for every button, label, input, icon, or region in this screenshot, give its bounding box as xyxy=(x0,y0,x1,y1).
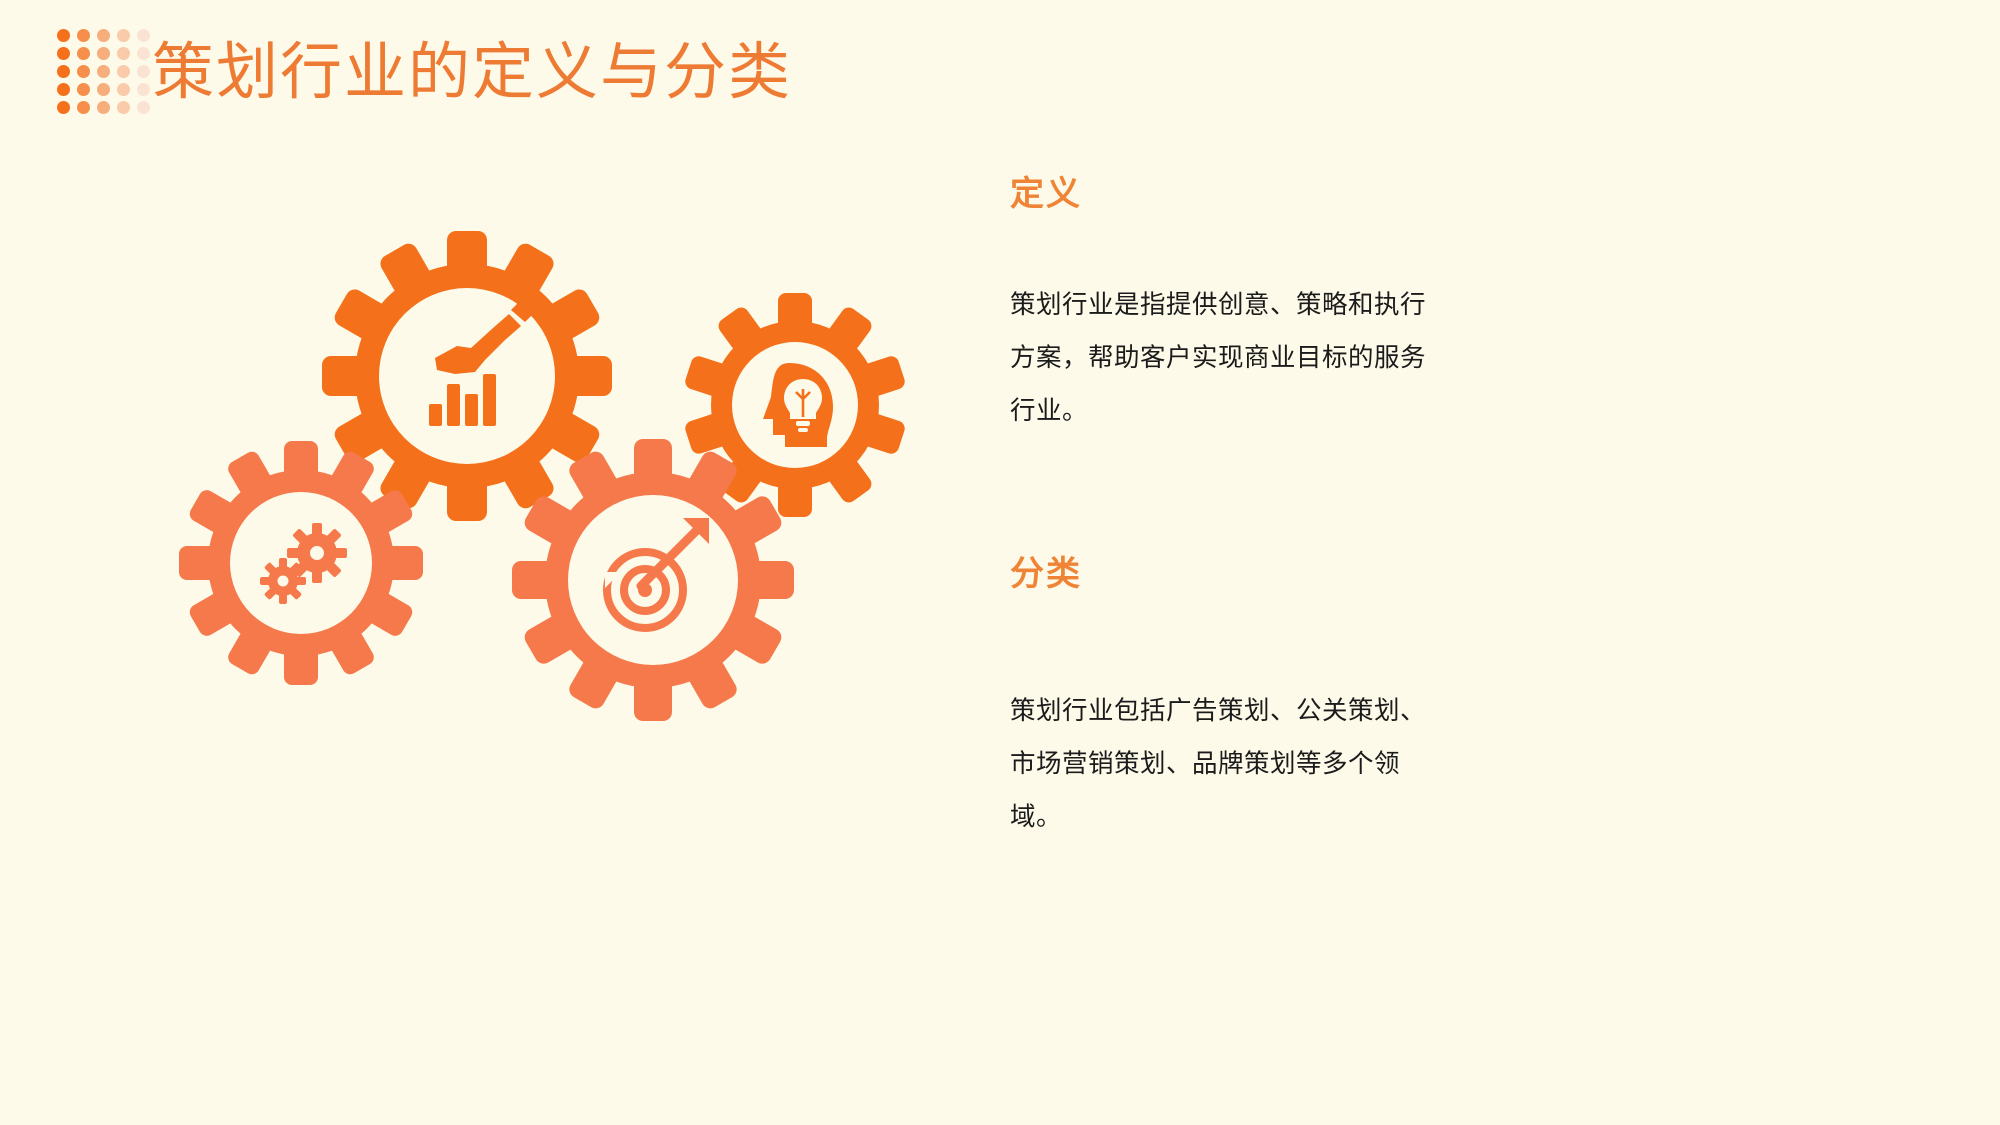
grid-dot xyxy=(77,29,90,42)
slide-canvas: 策划行业的定义与分类 xyxy=(0,0,2000,1125)
dot-grid-decoration xyxy=(57,29,157,119)
grid-dot xyxy=(117,83,130,96)
slide-header: 策划行业的定义与分类 xyxy=(0,0,2000,160)
grid-dot xyxy=(137,47,150,60)
grid-dot xyxy=(57,47,70,60)
grid-dot xyxy=(97,83,110,96)
grid-dot xyxy=(77,47,90,60)
grid-dot xyxy=(77,101,90,114)
grid-dot xyxy=(117,101,130,114)
grid-dot xyxy=(57,29,70,42)
content-column: 定义 策划行业是指提供创意、策略和执行方案，帮助客户实现商业目标的服务行业。 分… xyxy=(1010,175,1570,843)
section-body-definition: 策划行业是指提供创意、策略和执行方案，帮助客户实现商业目标的服务行业。 xyxy=(1010,278,1440,437)
grid-dot xyxy=(77,83,90,96)
grid-dot xyxy=(137,101,150,114)
grid-dot xyxy=(137,29,150,42)
grid-dot xyxy=(57,65,70,78)
gear-process xyxy=(176,438,426,688)
gear-target xyxy=(508,435,798,725)
grid-dot xyxy=(97,29,110,42)
grid-dot xyxy=(57,101,70,114)
grid-dot xyxy=(117,47,130,60)
grid-dot xyxy=(97,65,110,78)
grid-dot xyxy=(137,65,150,78)
grid-dot xyxy=(57,83,70,96)
section-heading-definition: 定义 xyxy=(1010,175,1570,216)
section-body-classification: 策划行业包括广告策划、公关策划、市场营销策划、品牌策划等多个领域。 xyxy=(1010,684,1440,843)
section-heading-classification: 分类 xyxy=(1010,555,1570,596)
grid-dot xyxy=(117,29,130,42)
grid-dot xyxy=(137,83,150,96)
page-title: 策划行业的定义与分类 xyxy=(152,38,792,109)
grid-dot xyxy=(97,47,110,60)
grid-dot xyxy=(77,65,90,78)
gear-cluster-illustration xyxy=(150,210,980,730)
grid-dot xyxy=(117,65,130,78)
grid-dot xyxy=(97,101,110,114)
